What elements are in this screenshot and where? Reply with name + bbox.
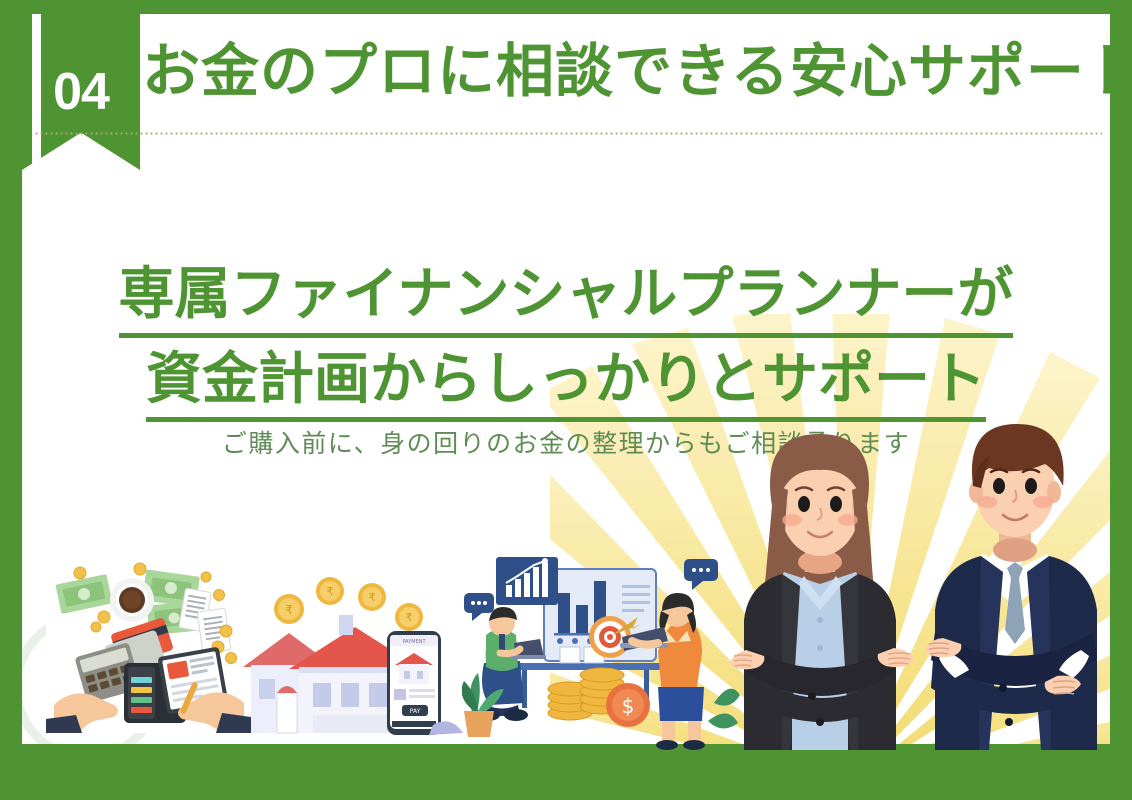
main-heading-line-1: 専属ファイナンシャルプランナーが (119, 259, 1014, 338)
slide-canvas: 04 お金のプロに相談できる安心サポート 専属ファイナンシャルプランナーが 資金… (22, 14, 1110, 772)
business-analytics-illustration: $ (462, 535, 742, 750)
svg-text:₹: ₹ (327, 585, 334, 598)
female-financial-planner (712, 410, 927, 750)
svg-text:$: $ (622, 694, 635, 718)
page-title: お金のプロに相談できる安心サポート (142, 42, 1110, 100)
badge-number: 04 (22, 62, 140, 122)
header: 04 お金のプロに相談できる安心サポート (22, 14, 1110, 144)
svg-text:₹: ₹ (285, 603, 293, 617)
dotted-divider (34, 132, 1102, 135)
main-heading: 専属ファイナンシャルプランナーが 資金計画からしっかりとサポート (22, 259, 1110, 422)
svg-text:₹: ₹ (369, 591, 376, 604)
house-payment-illustration: ₹ ₹ ₹ ₹ (237, 575, 467, 750)
financial-desk-illustration (36, 555, 261, 750)
svg-text:₹: ₹ (406, 611, 413, 624)
slide-root: 04 お金のプロに相談できる安心サポート 専属ファイナンシャルプランナーが 資金… (0, 0, 1132, 800)
male-financial-planner (907, 400, 1110, 750)
phone-pay-button: PAY (410, 708, 421, 715)
phone-screen-title: PAYMENT (402, 639, 426, 645)
